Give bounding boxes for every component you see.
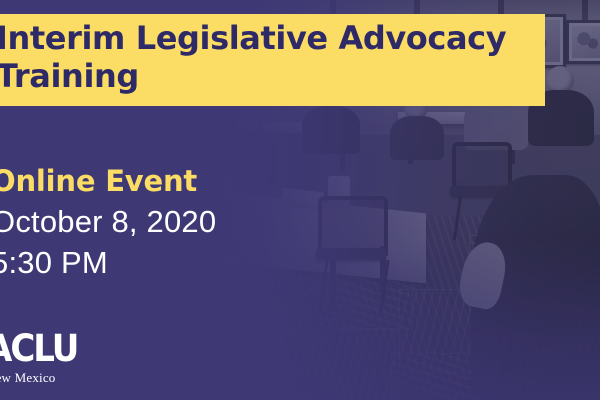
page-title: Interim Legislative Advocacy Training [0, 20, 531, 96]
event-date: October 8, 2020 [0, 202, 321, 243]
title-banner: Interim Legislative Advocacy Training [0, 14, 545, 106]
event-details: Online Event October 8, 2020 5:30 PM [0, 166, 321, 284]
aclu-logo: ACLU New Mexico [0, 330, 136, 384]
event-format-label: Online Event [0, 166, 321, 196]
event-time: 5:30 PM [0, 243, 321, 284]
aclu-logo-wordmark: ACLU [0, 330, 124, 367]
aclu-logo-affiliate: New Mexico [0, 371, 136, 384]
event-poster: Interim Legislative Advocacy Training On… [0, 0, 600, 400]
